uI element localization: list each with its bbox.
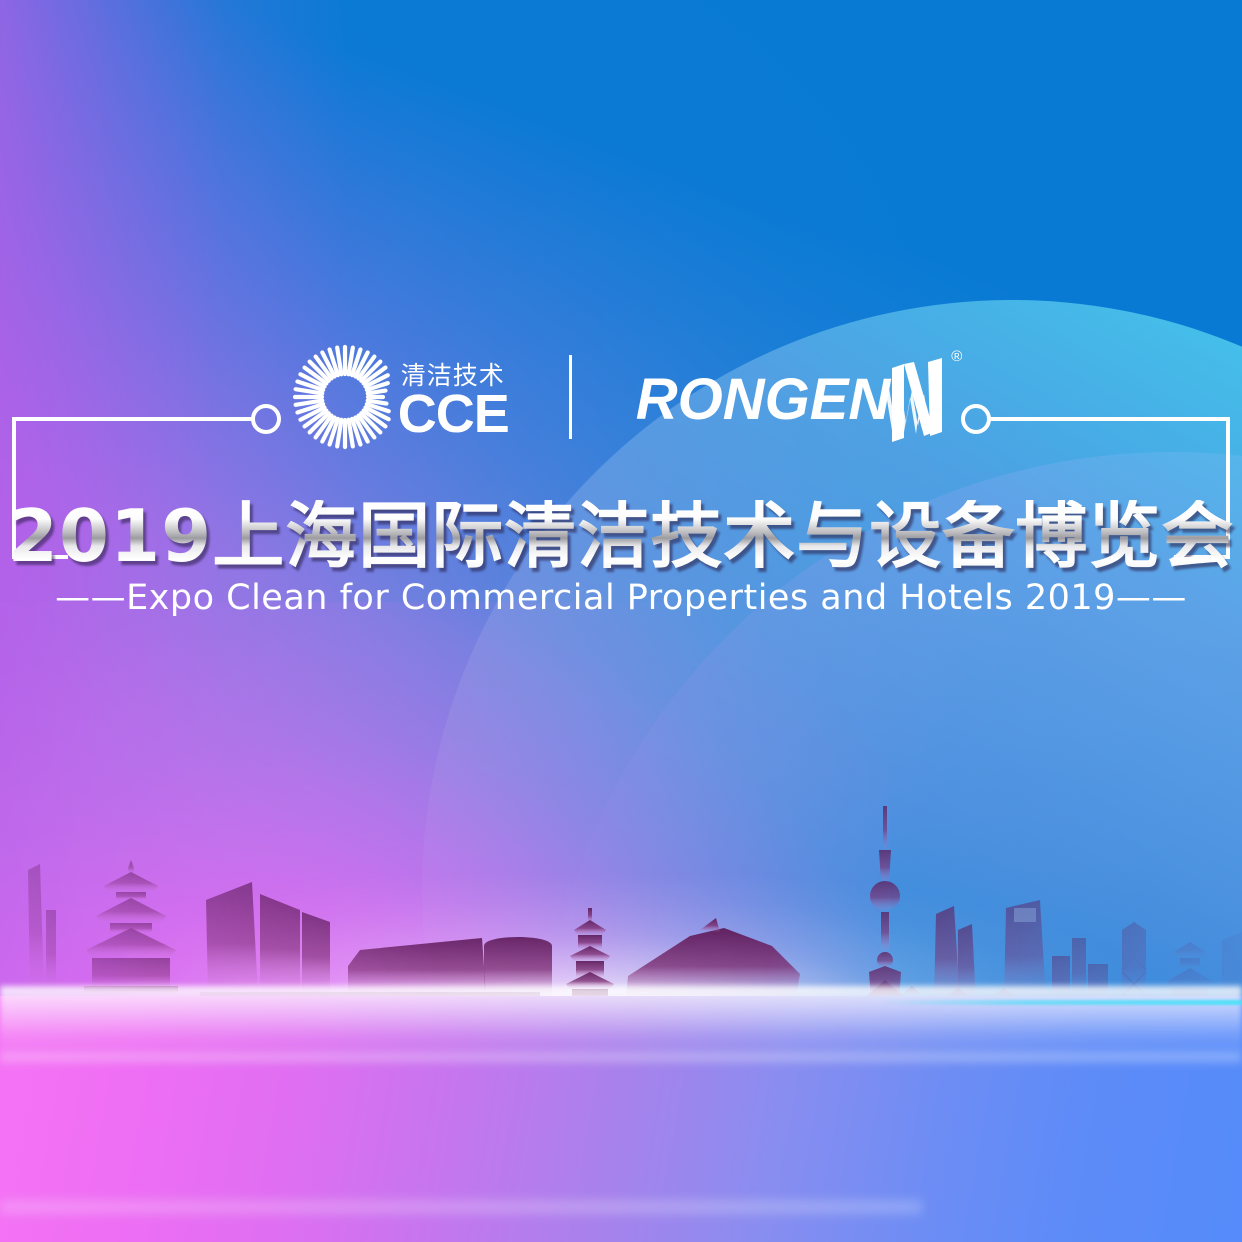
city-skyline-silhouette [0,760,1242,1020]
ground-horizon-fade [0,986,1242,1056]
logo-row: 清洁技术 CCE RONGEN ® [0,332,1242,462]
cce-acronym: CCE [398,390,509,440]
radial-burst-c-icon [290,342,400,452]
rongen-wordmark: RONGEN [636,371,891,429]
rongen-logo: RONGEN ® [636,352,953,448]
ground-cyan-highlight [880,1000,1242,1005]
cce-logo: 清洁技术 CCE [290,342,509,452]
zigzag-n-mark-icon [874,352,952,448]
ground-light-streak-lower [0,1196,922,1218]
logo-divider [569,355,572,439]
title-block: 2019上海国际清洁技术与设备博览会 ——Expo Clean for Comm… [0,500,1242,618]
registered-trademark-icon: ® [951,348,962,365]
poster-canvas: 清洁技术 CCE RONGEN ® [0,0,1242,1242]
ground-light-streak [0,1048,1242,1066]
cce-text-block: 清洁技术 CCE [398,363,509,440]
page-title-chinese: 2019上海国际清洁技术与设备博览会 [0,500,1242,572]
page-subtitle-english: ——Expo Clean for Commercial Properties a… [0,578,1242,618]
